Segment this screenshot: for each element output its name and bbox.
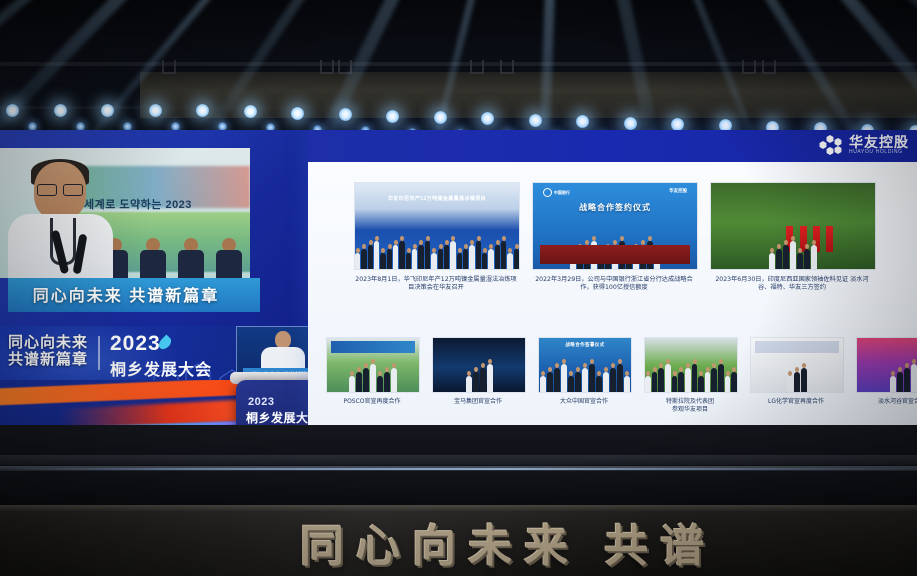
crowd-figure (685, 368, 691, 392)
crowd-figure (725, 376, 731, 392)
card-caption: 2023年8月1日，华飞印尼年产12万吨镍金属量湿法冶炼项目决策会在华友召开 (354, 276, 518, 292)
highlight-card: 中国银行 华友控股 战略合作签约仪式 2022年3月29日，公司与中国银行浙江省… (532, 182, 696, 292)
crowd-figure (540, 376, 546, 392)
event-slogan-line1: 同心向未来 (8, 334, 88, 351)
podium-year: 2023 (248, 396, 274, 408)
stage-lamp (386, 110, 399, 123)
crowd-figure (897, 372, 903, 392)
stage-lamp (529, 114, 542, 127)
partner-card: 淡水河谷官宣合作 (856, 337, 917, 406)
partner-card: 特斯拉院及代表团 参观华友项目 (644, 337, 736, 413)
crowd-figure (418, 245, 423, 269)
crowd-figure (811, 245, 817, 269)
crowd-figure (658, 368, 664, 392)
crowd-figure (797, 253, 803, 269)
glasses-icon (37, 184, 83, 194)
stage-lamp (6, 104, 19, 117)
crowd-figure (794, 372, 800, 392)
stage-lamp (149, 104, 162, 117)
event-slogan: 同心向未来 共谱新篇章 (8, 334, 88, 368)
crowd-figure (554, 368, 560, 392)
seated-person (140, 238, 166, 278)
crowd-figure (731, 372, 737, 392)
crowd-figure (355, 253, 360, 269)
stage-step (0, 455, 917, 465)
crowd-figure (787, 376, 793, 392)
card-photo (750, 337, 844, 393)
crowd-figure (349, 376, 355, 392)
crowd-figure (444, 245, 449, 269)
highlight-card: 2023年6月30日，印度尼西亚国家领袖佐科见证 淡水河谷、福特、华友三方签约 (710, 182, 874, 292)
crowd-figure (783, 245, 789, 269)
crowd-figure (463, 249, 468, 269)
crowd-figure (391, 368, 397, 392)
crowd-figure (698, 376, 704, 392)
card-photo (856, 337, 917, 393)
crowd-figure (374, 241, 379, 269)
crowd-figure (425, 241, 430, 269)
crowd-figure (507, 253, 512, 269)
partner-card: POSCO官宣再度合作 (326, 337, 418, 406)
card-photo (326, 337, 420, 393)
crowd-figure (438, 249, 443, 269)
crowd-figure (473, 372, 479, 392)
crowd-figure (412, 249, 417, 269)
crowd-figure (617, 364, 623, 392)
crowd-figure (431, 253, 436, 269)
card-photo-headline: 华友印尼年产12万吨镍金属量高冰镍项目 (355, 195, 519, 202)
crowd-figure (610, 368, 616, 392)
stage-lamp (339, 108, 352, 121)
partner-card: 战略合作签署仪式 大众中国官宣合作 (538, 337, 630, 406)
broadcast-lower-third-text: 同心向未来 共谱新篇章 (0, 282, 252, 306)
crowd-figure (393, 245, 398, 269)
crowd-figure (596, 376, 602, 392)
stage-lamp (434, 111, 447, 124)
huayou-logo-icon: 华友控股 (669, 188, 687, 194)
card-caption: 特斯拉院及代表团 参观华友项目 (644, 398, 736, 413)
crowd-figure (495, 245, 500, 269)
crowd-figure (406, 253, 411, 269)
card-photo (432, 337, 526, 393)
card-photo: 华友印尼年产12万吨镍金属量高冰镍项目 (354, 182, 520, 270)
crowd-figure (384, 372, 390, 392)
card-caption: 2023年6月30日，印度尼西亚国家领袖佐科见证 淡水河谷、福特、华友三方签约 (710, 276, 874, 292)
crowd-figure (480, 368, 486, 392)
crowd-figure (672, 376, 678, 392)
crowd-figure (589, 364, 595, 392)
huayou-hex-mark-icon (819, 134, 845, 156)
crowd-figure (776, 249, 782, 269)
crowd-figure (356, 372, 362, 392)
main-led-screen: 华友控股 HUAYOU HOLDING 华友印尼年产12万吨镍金属量高冰镍项目 … (308, 130, 917, 425)
crowd-figure (692, 364, 698, 392)
stage-photo: 세계로 도약하는 2023 同心向未来 共谱新篇章 同心向未来 共谱新篇章 20… (0, 0, 917, 576)
stage-edge-glow (0, 468, 917, 470)
crowd-figure (790, 241, 796, 269)
partner-card: LG化学官宣再度合作 (750, 337, 842, 406)
crowd-figure (487, 364, 493, 392)
crowd-figure (665, 364, 671, 392)
crowd-figure (380, 253, 385, 269)
card-photo (710, 182, 876, 270)
card-photo: 中国银行 华友控股 战略合作签约仪式 (532, 182, 698, 270)
crowd-figure (678, 372, 684, 392)
card-photo: 战略合作签署仪式 (538, 337, 632, 393)
crowd-figure (801, 368, 807, 392)
banner-divider (98, 336, 100, 370)
crowd-figure (718, 364, 724, 392)
crowd-figure (466, 376, 472, 392)
crowd-figure (387, 249, 392, 269)
crowd-figure (575, 372, 581, 392)
card-caption: POSCO官宣再度合作 (326, 398, 418, 406)
crowd-figure (804, 249, 810, 269)
crowd-figure (568, 376, 574, 392)
crowd-figure (705, 372, 711, 392)
card-caption: 大众中国官宣合作 (538, 398, 630, 406)
crowd-figure (450, 241, 455, 269)
crowd-figure (370, 364, 376, 392)
stage-lamp (624, 117, 637, 130)
stage-lamp (196, 104, 209, 117)
stage-apron (0, 471, 917, 505)
crowd-figure (603, 372, 609, 392)
partner-card: 宝马集团官宣合作 (432, 337, 524, 406)
card-photo-headline: 战略合作签约仪式 (533, 202, 697, 213)
seated-person (216, 238, 242, 278)
truss-frame (140, 72, 917, 118)
crowd-figure (361, 249, 366, 269)
crowd-figure (488, 249, 493, 269)
crowd-figure (547, 372, 553, 392)
logo-text-cn: 华友控股 (849, 136, 909, 149)
seated-person (178, 238, 204, 278)
crowd-figure (769, 253, 775, 269)
event-year: 2023 (110, 332, 161, 356)
crowd-figure (904, 368, 910, 392)
crowd-figure (911, 364, 917, 392)
stage-lamp (54, 104, 67, 117)
card-caption: LG化学官宣再度合作 (750, 398, 842, 406)
crowd-figure (711, 368, 717, 392)
screen-header-bar: 华友控股 HUAYOU HOLDING (308, 130, 917, 162)
stage-lamp (101, 104, 114, 117)
stage-lamp (291, 107, 304, 120)
crowd-figure (368, 245, 373, 269)
crowd-figure (890, 376, 896, 392)
crowd-figure (582, 368, 588, 392)
stage-lamp (244, 105, 257, 118)
crowd-figure (399, 241, 404, 269)
card-photo (644, 337, 738, 393)
crowd-figure (457, 253, 462, 269)
crowd-figure (501, 241, 506, 269)
event-slogan-line2: 共谱新篇章 (8, 351, 88, 368)
crowd-figure (561, 364, 567, 392)
crowd-figure (624, 376, 630, 392)
crowd-figure (476, 241, 481, 269)
logo-text-en: HUAYOU HOLDING (849, 149, 909, 155)
highlight-card: 华友印尼年产12万吨镍金属量高冰镍项目 2023年8月1日，华飞印尼年产12万吨… (354, 182, 518, 292)
bank-of-china-logo-icon: 中国银行 (543, 188, 570, 197)
card-caption: 宝马集团官宣合作 (432, 398, 524, 406)
crowd-figure (645, 376, 651, 392)
crowd-figure (652, 372, 658, 392)
crowd-figure (514, 249, 519, 269)
huayou-logo: 华友控股 HUAYOU HOLDING (819, 134, 909, 156)
crowd-figure (377, 376, 383, 392)
crowd-figure (469, 245, 474, 269)
card-caption: 2022年3月29日，公司与中国银行浙江省分行达成战略合作，获得100亿授信额度 (532, 276, 696, 292)
crowd-figure (363, 368, 369, 392)
crowd-figure (482, 253, 487, 269)
ceiling-truss-area (0, 0, 917, 150)
card-caption: 淡水河谷官宣合作 (856, 398, 917, 406)
screen-content: 华友印尼年产12万吨镍金属量高冰镍项目 2023年8月1日，华飞印尼年产12万吨… (308, 162, 917, 425)
